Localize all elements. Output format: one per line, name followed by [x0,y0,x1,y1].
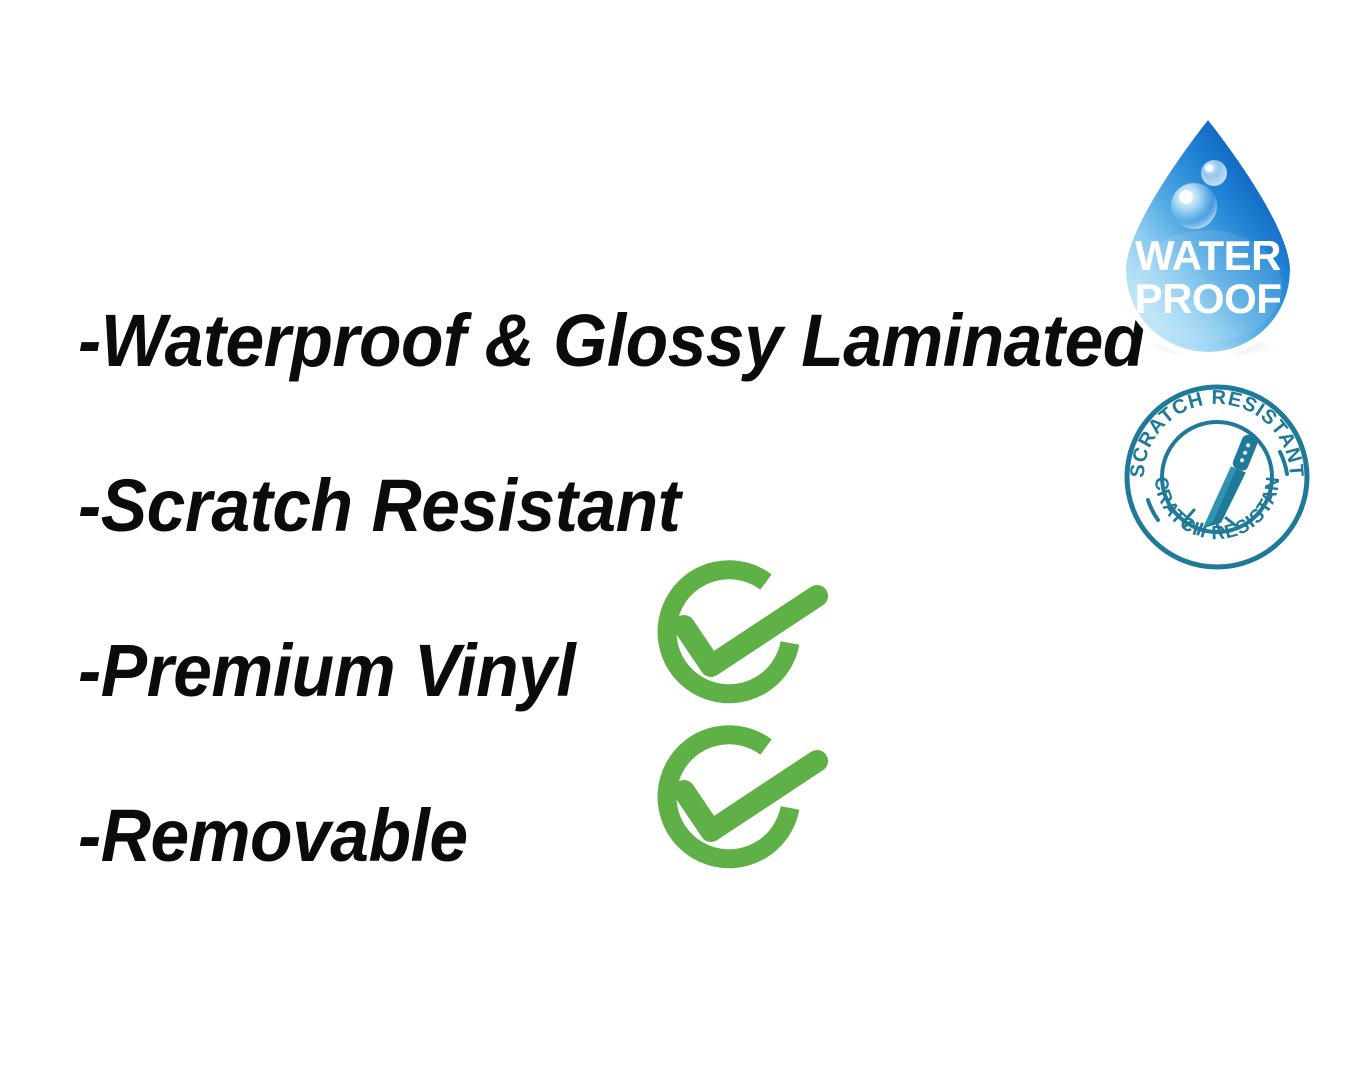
feature-list: -Waterproof & Glossy Laminated -Scratch … [78,258,1108,918]
feature-item-scratch-resistant: -Scratch Resistant [78,423,1046,588]
feature-item-premium-vinyl: -Premium Vinyl [78,588,1046,753]
waterproof-label-line2: PROOF [1135,275,1282,322]
water-bubble-large-icon [1171,183,1217,229]
waterproof-badge: WATER PROOF [1108,110,1308,360]
checkmark-icon [684,596,817,666]
water-bubble-small-icon [1201,160,1227,186]
product-feature-graphic: -Waterproof & Glossy Laminated -Scratch … [0,0,1359,1080]
green-check-badge-removable [637,723,837,878]
water-bubble-small-highlight [1205,164,1213,172]
feature-item-waterproof-glossy-laminated: -Waterproof & Glossy Laminated [78,258,1046,423]
green-check-badge-premium-vinyl [637,558,837,713]
feature-item-removable: -Removable [78,753,1046,918]
waterproof-label-line1: WATER [1135,232,1281,279]
seal-text-top: SCRATCH RESISTANT [1127,387,1308,479]
checkmark-icon [684,761,817,831]
water-bubble-large-highlight [1179,190,1193,204]
scratch-resistant-badge: SCRATCH RESISTANT SCRATCH RESISTANT [1122,382,1312,572]
